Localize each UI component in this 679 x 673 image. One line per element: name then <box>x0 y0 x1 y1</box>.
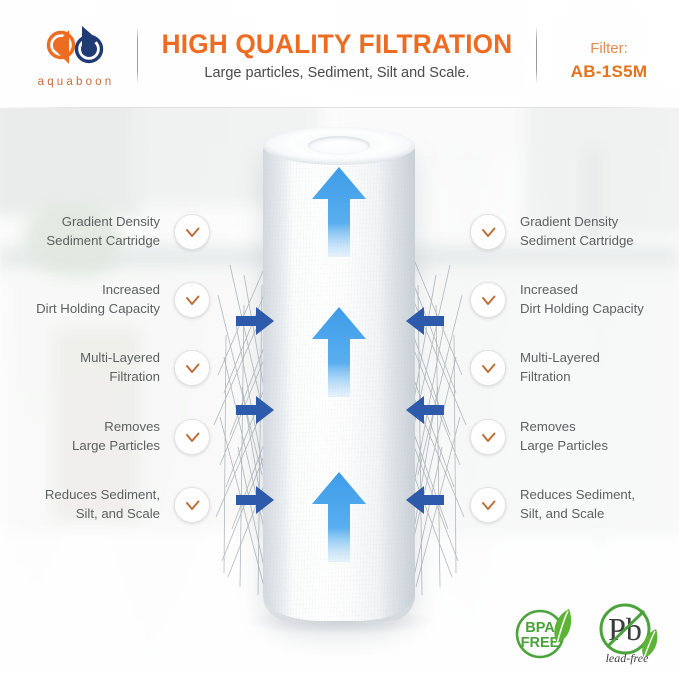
feature-label: Increased Dirt Holding Capacity <box>36 281 174 318</box>
flow-arrow-in-left-2 <box>236 395 274 425</box>
feature-label: Gradient Density Sediment Cartridge <box>46 213 174 250</box>
check-icon <box>470 350 506 386</box>
feature-item-right-2: Increased Dirt Holding Capacity <box>470 278 644 322</box>
feature-label: Multi-Layered Filtration <box>80 349 174 386</box>
certification-badges: BPA FREE Pb lead-free <box>512 600 672 670</box>
cartridge-center-hole <box>308 136 370 155</box>
product-infographic: aquaboon HIGH QUALITY FILTRATION Large p… <box>0 0 679 673</box>
feature-label: Multi-Layered Filtration <box>506 349 600 386</box>
flow-arrow-in-right-1 <box>406 306 444 336</box>
brand-name: aquaboon <box>22 76 130 88</box>
background-cabinet-left <box>0 96 140 216</box>
bpa-line-2: FREE <box>521 635 560 651</box>
cartridge-shading-right <box>379 143 415 621</box>
flow-arrow-in-right-3 <box>406 485 444 515</box>
flow-arrow-up-1 <box>310 165 368 257</box>
bpa-line-1: BPA <box>525 620 555 636</box>
check-icon <box>174 419 210 455</box>
check-icon <box>174 214 210 250</box>
check-icon <box>470 282 506 318</box>
feature-item-left-5: Reduces Sediment, Silt, and Scale <box>45 483 210 527</box>
header-divider-right <box>536 26 537 84</box>
aquaboon-ab-droplet-logo <box>44 24 108 77</box>
cartridge-shading-left <box>263 143 293 621</box>
flow-arrow-in-right-2 <box>406 395 444 425</box>
filter-cartridge-illustration <box>200 125 480 665</box>
feature-label: Reduces Sediment, Silt, and Scale <box>45 486 174 523</box>
bpa-free-badge: BPA FREE <box>512 602 578 669</box>
feature-label: Removes Large Particles <box>72 418 174 455</box>
feature-item-right-5: Reduces Sediment, Silt, and Scale <box>470 483 635 527</box>
filter-model-block: Filter: AB-1S5M <box>545 38 673 84</box>
page-subtitle: Large particles, Sediment, Silt and Scal… <box>145 65 529 81</box>
check-icon <box>174 282 210 318</box>
filter-model-code: AB-1S5M <box>545 60 673 85</box>
brand-logo: aquaboon <box>22 24 130 90</box>
check-icon <box>174 350 210 386</box>
feature-item-left-1: Gradient Density Sediment Cartridge <box>46 210 210 254</box>
header-divider-left <box>137 26 138 84</box>
page-title: HIGH QUALITY FILTRATION <box>151 30 523 59</box>
feature-item-left-2: Increased Dirt Holding Capacity <box>36 278 210 322</box>
feature-item-left-3: Multi-Layered Filtration <box>80 346 210 390</box>
header-bar: aquaboon HIGH QUALITY FILTRATION Large p… <box>0 0 679 108</box>
feature-item-right-1: Gradient Density Sediment Cartridge <box>470 210 634 254</box>
feature-label: Gradient Density Sediment Cartridge <box>506 213 634 250</box>
check-icon <box>174 487 210 523</box>
feature-item-right-4: Removes Large Particles <box>470 415 608 459</box>
check-icon <box>470 419 506 455</box>
feature-label: Reduces Sediment, Silt, and Scale <box>506 486 635 523</box>
flow-arrow-in-left-3 <box>236 485 274 515</box>
headline-block: HIGH QUALITY FILTRATION Large particles,… <box>145 30 529 81</box>
flow-arrow-up-2 <box>310 305 368 397</box>
check-icon <box>470 487 506 523</box>
feature-item-left-4: Removes Large Particles <box>72 415 210 459</box>
feature-label: Removes Large Particles <box>506 418 608 455</box>
lead-free-badge: Pb lead-free <box>594 600 666 671</box>
flow-arrow-up-3 <box>310 470 368 562</box>
filter-label: Filter: <box>545 38 673 60</box>
header-bottom-rule <box>0 107 679 108</box>
lead-free-caption: lead-free <box>606 651 650 665</box>
check-icon <box>470 214 506 250</box>
feature-label: Increased Dirt Holding Capacity <box>506 281 644 318</box>
feature-item-right-3: Multi-Layered Filtration <box>470 346 600 390</box>
flow-arrow-in-left-1 <box>236 306 274 336</box>
